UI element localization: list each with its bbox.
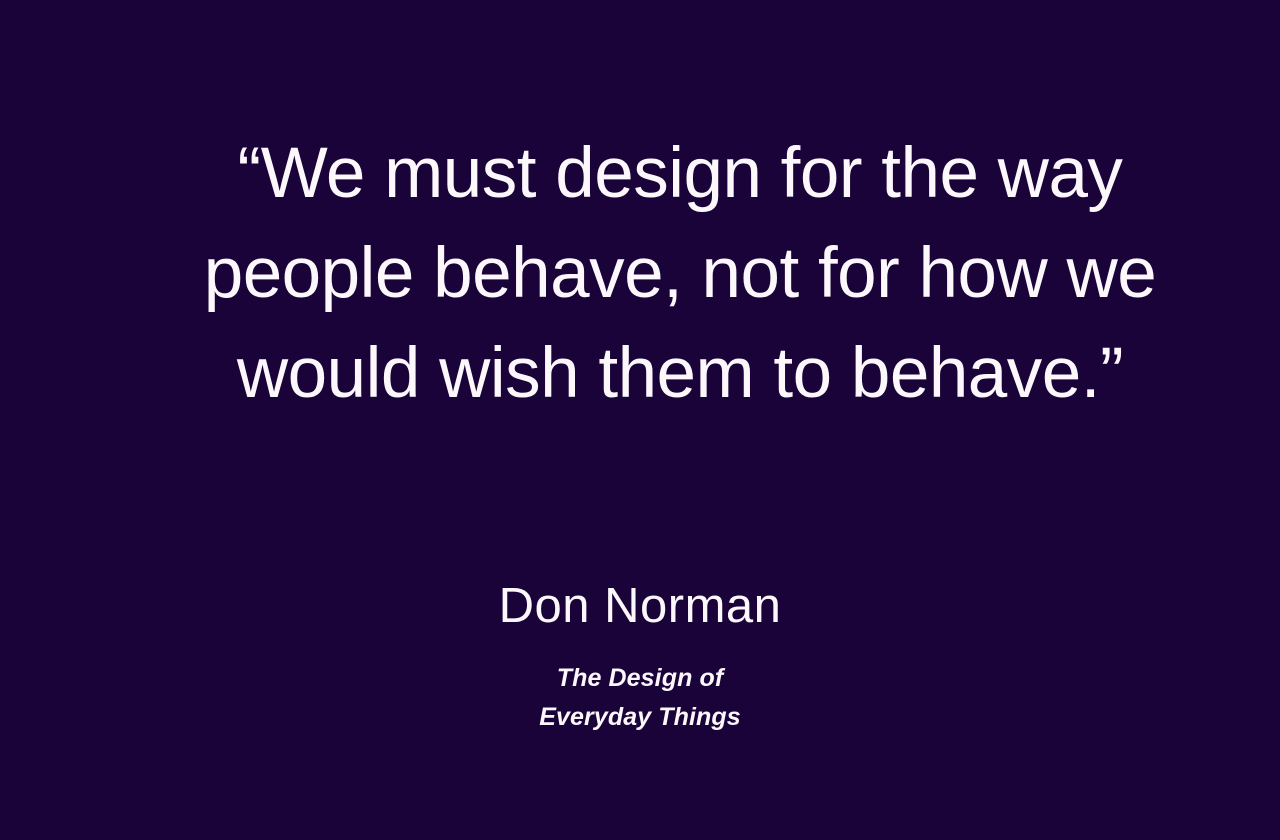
attribution: Don Norman The Design of Everyday Things <box>0 575 1280 737</box>
source-title: The Design of Everyday Things <box>0 659 1280 737</box>
source-title-line-1: The Design of <box>0 659 1280 698</box>
quote-text: “We must design for the way people behav… <box>40 124 1280 424</box>
source-title-line-2: Everyday Things <box>0 698 1280 737</box>
quote-line-2: people behave, not for how we <box>40 224 1280 324</box>
quote-line-3: would wish them to behave.” <box>40 324 1280 424</box>
author-name: Don Norman <box>0 575 1280 637</box>
quote-card: “We must design for the way people behav… <box>0 0 1280 840</box>
quote-line-1: “We must design for the way <box>40 124 1280 224</box>
